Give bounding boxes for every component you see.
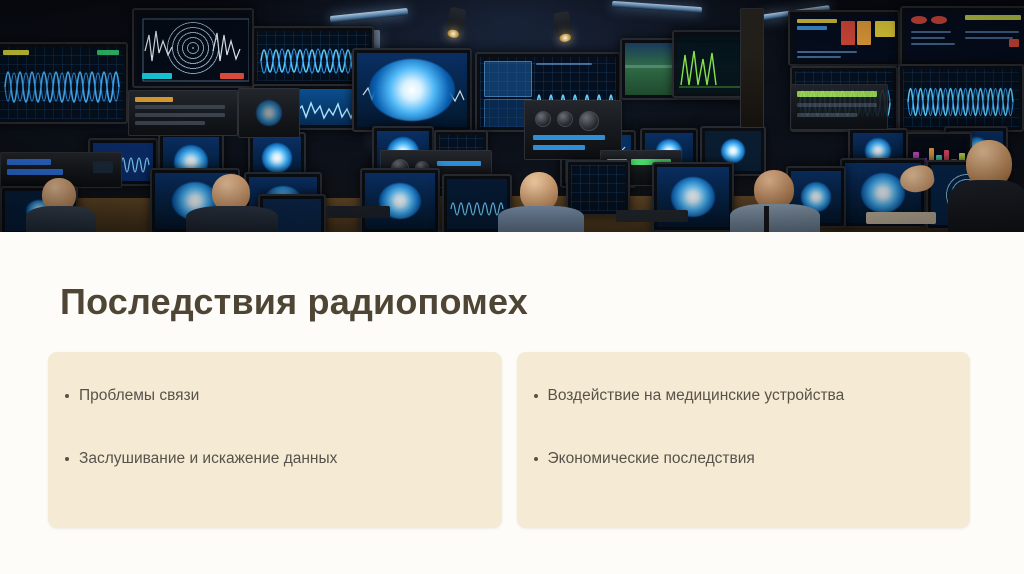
bullet-list-left: Проблемы связи Заслушивание и искажение … xyxy=(65,386,488,469)
bullet-dot-icon xyxy=(534,457,538,461)
screen-label-chip xyxy=(97,50,119,55)
keyboard xyxy=(616,210,688,222)
list-item: Воздействие на медицинские устройства xyxy=(534,386,957,405)
screen-label-chip xyxy=(220,73,244,79)
keyboard xyxy=(326,206,390,218)
person-operator xyxy=(498,172,584,232)
waveform-trace xyxy=(903,69,1019,127)
monitor-statusboard xyxy=(788,10,900,66)
monitor-green-scope xyxy=(672,30,750,98)
monitor-radar xyxy=(132,8,254,88)
bullet-list-right: Воздействие на медицинские устройства Эк… xyxy=(534,386,957,469)
monitor-statusboard xyxy=(900,6,1024,66)
list-item-label: Проблемы связи xyxy=(79,386,199,405)
bullet-dot-icon xyxy=(65,457,69,461)
green-trace xyxy=(677,35,745,93)
screen-label-chip xyxy=(3,50,29,55)
list-item-label: Заслушивание и искажение данных xyxy=(79,449,337,468)
lanyard xyxy=(764,206,769,232)
list-item-label: Воздействие на медицинские устройства xyxy=(548,386,845,405)
equipment-rack xyxy=(128,90,238,136)
page-title: Последствия радиопомех xyxy=(60,281,528,323)
person-supervisor xyxy=(952,140,1024,232)
control-room-scene xyxy=(0,0,1024,232)
person-operator xyxy=(186,174,278,232)
person-operator xyxy=(730,170,820,232)
equipment-rack xyxy=(238,88,300,138)
monitor-glow-desk xyxy=(360,168,440,232)
screen-label-chip xyxy=(142,73,172,79)
person-operator xyxy=(24,178,96,232)
cards-row: Проблемы связи Заслушивание и искажение … xyxy=(48,352,970,528)
monitor-waveform xyxy=(898,64,1024,132)
card-left: Проблемы связи Заслушивание и искажение … xyxy=(48,352,502,528)
spot-lamp xyxy=(553,11,573,39)
bullet-dot-icon xyxy=(65,394,69,398)
rack-pillar xyxy=(740,8,764,128)
ceiling-light xyxy=(330,8,408,23)
slide: Последствия радиопомех Проблемы связи За… xyxy=(0,0,1024,574)
list-item-label: Экономические последствия xyxy=(548,449,755,468)
monitor-glow xyxy=(352,48,472,132)
equipment-rack xyxy=(790,84,888,130)
waveform-trace xyxy=(0,47,123,119)
spot-lamp xyxy=(445,7,466,36)
ceiling-light xyxy=(612,1,702,13)
hero-photo xyxy=(0,0,1024,232)
list-item: Экономические последствия xyxy=(534,449,957,468)
list-item: Проблемы связи xyxy=(65,386,488,405)
list-item: Заслушивание и искажение данных xyxy=(65,449,488,468)
card-right: Воздействие на медицинские устройства Эк… xyxy=(517,352,971,528)
paper-sheet xyxy=(866,212,936,224)
bullet-dot-icon xyxy=(534,394,538,398)
monitor-waveform xyxy=(0,42,128,124)
